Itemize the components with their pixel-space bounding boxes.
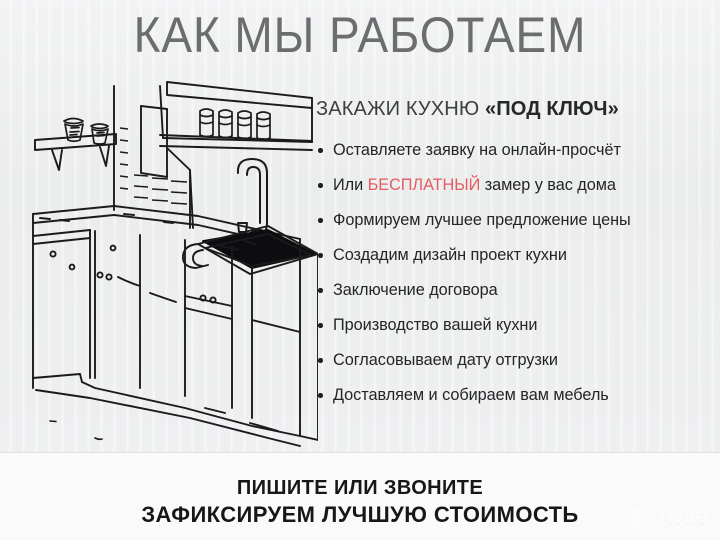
step-text: Доставляем и собираем вам мебель bbox=[333, 386, 609, 404]
list-item: Согласовываем дату отгрузки bbox=[316, 350, 712, 370]
steps-list: Оставляете заявку на онлайн-просчёт Или … bbox=[316, 140, 712, 405]
offer-subtitle-bold: «ПОД КЛЮЧ» bbox=[485, 97, 619, 120]
step-text: Согласовываем дату отгрузки bbox=[333, 351, 558, 369]
step-text-before: Или bbox=[333, 176, 368, 194]
step-text: Производство вашей кухни bbox=[333, 316, 537, 334]
list-item: Формируем лучшее предложение цены bbox=[316, 210, 712, 230]
avito-dots-logo bbox=[631, 507, 655, 527]
step-text: Заключение договора bbox=[333, 281, 498, 299]
avito-watermark-text: Avito bbox=[658, 505, 708, 529]
footer-line-2: ЗАФИКСИРУЕМ ЛУЧШУЮ СТОИМОСТЬ bbox=[0, 501, 720, 528]
list-item: Доставляем и собираем вам мебель bbox=[316, 385, 712, 405]
step-text: Создадим дизайн проект кухни bbox=[333, 246, 567, 264]
offer-subtitle: ЗАКАЖИ КУХНЮ «ПОД КЛЮЧ» bbox=[316, 96, 704, 122]
page-title: КАК МЫ РАБОТАЕМ bbox=[29, 6, 691, 64]
list-item: Производство вашей кухни bbox=[316, 315, 712, 335]
avito-watermark: Avito bbox=[631, 505, 708, 529]
offer-column: ЗАКАЖИ КУХНЮ «ПОД КЛЮЧ» Оставляете заявк… bbox=[316, 96, 712, 420]
list-item: Или БЕСПЛАТНЫЙ замер у вас дома bbox=[316, 175, 712, 195]
step-text-after: замер у вас дома bbox=[480, 176, 616, 194]
kitchen-line-drawing bbox=[0, 78, 318, 450]
list-item: Оставляете заявку на онлайн-просчёт bbox=[316, 140, 712, 160]
step-text: Формируем лучшее предложение цены bbox=[333, 211, 631, 229]
list-item: Заключение договора bbox=[316, 280, 712, 300]
step-highlight: БЕСПЛАТНЫЙ bbox=[368, 176, 481, 194]
footer-call-to-action: ПИШИТЕ ИЛИ ЗВОНИТЕ ЗАФИКСИРУЕМ ЛУЧШУЮ СТ… bbox=[0, 476, 720, 528]
list-item: Создадим дизайн проект кухни bbox=[316, 245, 712, 265]
poster: КАК МЫ РАБОТАЕМ bbox=[0, 0, 720, 540]
footer-line-1: ПИШИТЕ ИЛИ ЗВОНИТЕ bbox=[0, 476, 720, 501]
step-text: Оставляете заявку на онлайн-просчёт bbox=[333, 141, 621, 159]
offer-subtitle-prefix: ЗАКАЖИ КУХНЮ bbox=[316, 97, 485, 120]
